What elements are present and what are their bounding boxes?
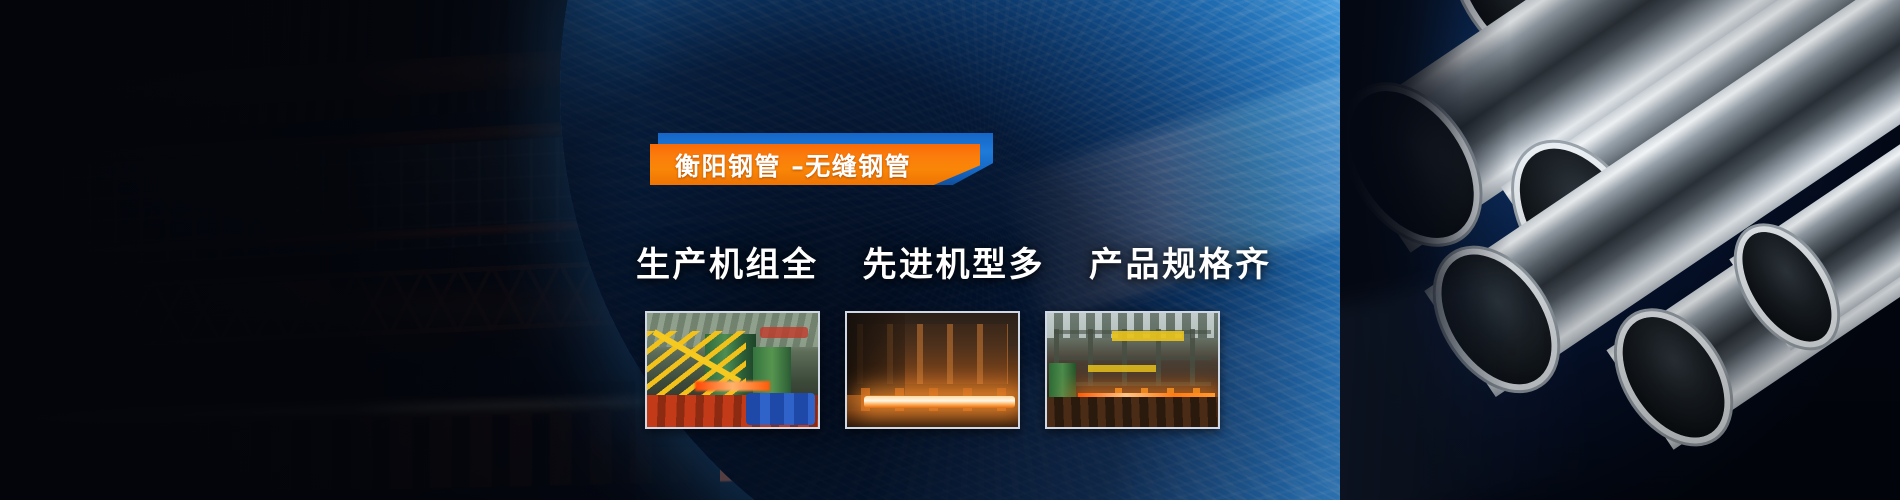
- brand-tag-orange-plate: 衡阳钢管 –无缝钢管: [650, 144, 980, 185]
- thumb1-scene: [647, 313, 818, 427]
- headline: 生产机组全 先进机型多 产品规格齐: [636, 237, 1272, 286]
- brand-tag: 衡阳钢管 –无缝钢管: [650, 133, 993, 185]
- thumb2-scene: [847, 313, 1018, 427]
- earth-left-fade: [0, 0, 640, 500]
- thumbnail-rolling-mill-equipment[interactable]: [645, 311, 820, 429]
- brand-tag-label: 衡阳钢管 –无缝钢管: [650, 147, 911, 183]
- thumbnail-steel-production-line[interactable]: [1045, 311, 1220, 429]
- headline-segment-2: 先进机型多: [863, 237, 1046, 286]
- promo-banner: 衡阳钢管 –无缝钢管 生产机组全 先进机型多 产品规格齐: [0, 0, 1900, 500]
- thumbnail-row: [645, 311, 1220, 429]
- thumb3-scene: [1047, 313, 1218, 427]
- headline-segment-3: 产品规格齐: [1089, 237, 1272, 286]
- thumbnail-hot-billet-rolling[interactable]: [845, 311, 1020, 429]
- headline-segment-1: 生产机组全: [636, 237, 819, 286]
